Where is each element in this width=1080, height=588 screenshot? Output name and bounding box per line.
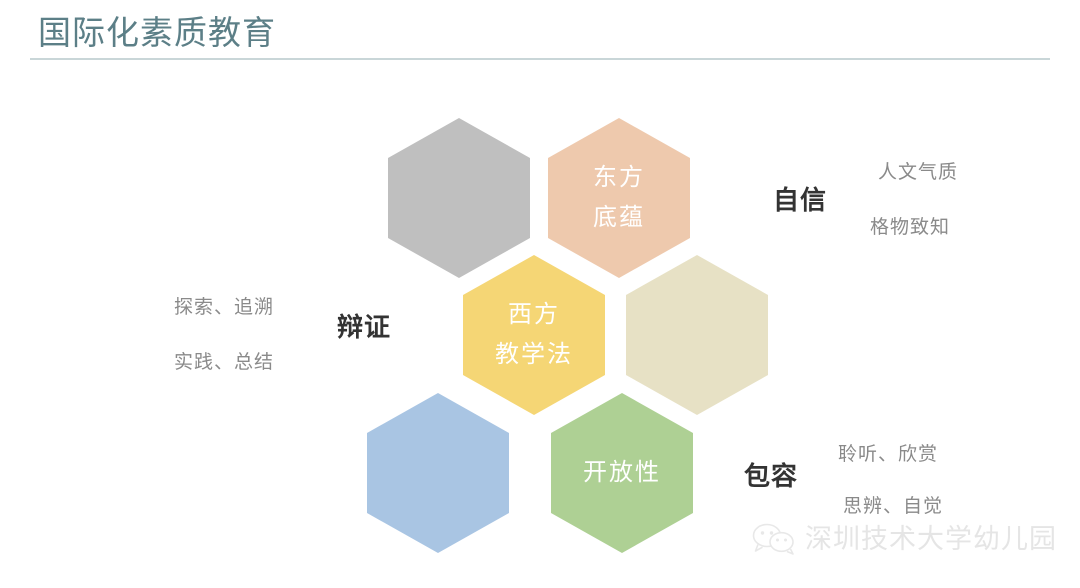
annotation-reflect-aware: 思辨、自觉	[843, 494, 943, 520]
hexagon-eastern-heritage[interactable]: 东方 底蕴	[548, 118, 690, 278]
annotation-practice-summarize: 实践、总结	[174, 350, 274, 376]
slide-canvas: 国际化素质教育 东方 底蕴 西方 教学法 开放性 自信 人文气质 格物致知 辩证…	[0, 0, 1080, 588]
hexagon-label-line1: 开放性	[583, 453, 661, 493]
wechat-icon	[752, 523, 796, 555]
hexagon-blue[interactable]	[367, 393, 509, 553]
keyword-confidence: 自信	[773, 184, 827, 216]
hexagon-label-line2: 教学法	[495, 335, 573, 375]
hexagon-gray[interactable]	[388, 118, 530, 278]
annotation-investigate-knowledge: 格物致知	[870, 215, 950, 241]
hexagon-label-line1: 东方	[593, 158, 645, 198]
watermark: 深圳技术大学幼儿园	[752, 522, 1057, 556]
keyword-inclusiveness: 包容	[744, 460, 798, 492]
hexagon-western-pedagogy[interactable]: 西方 教学法	[463, 255, 605, 415]
hexagon-label-line1: 西方	[508, 295, 560, 335]
annotation-listen-appreciate: 聆听、欣赏	[838, 442, 938, 468]
page-title: 国际化素质教育	[38, 13, 276, 53]
hexagon-label-line2: 底蕴	[593, 198, 645, 238]
annotation-explore-trace: 探索、追溯	[174, 295, 274, 321]
watermark-text: 深圳技术大学幼儿园	[805, 522, 1057, 556]
keyword-dialectic: 辩证	[337, 311, 391, 343]
title-divider	[30, 58, 1050, 60]
hexagon-openness[interactable]: 开放性	[551, 393, 693, 553]
annotation-humanistic-temperament: 人文气质	[878, 160, 958, 186]
hexagon-beige[interactable]	[626, 255, 768, 415]
